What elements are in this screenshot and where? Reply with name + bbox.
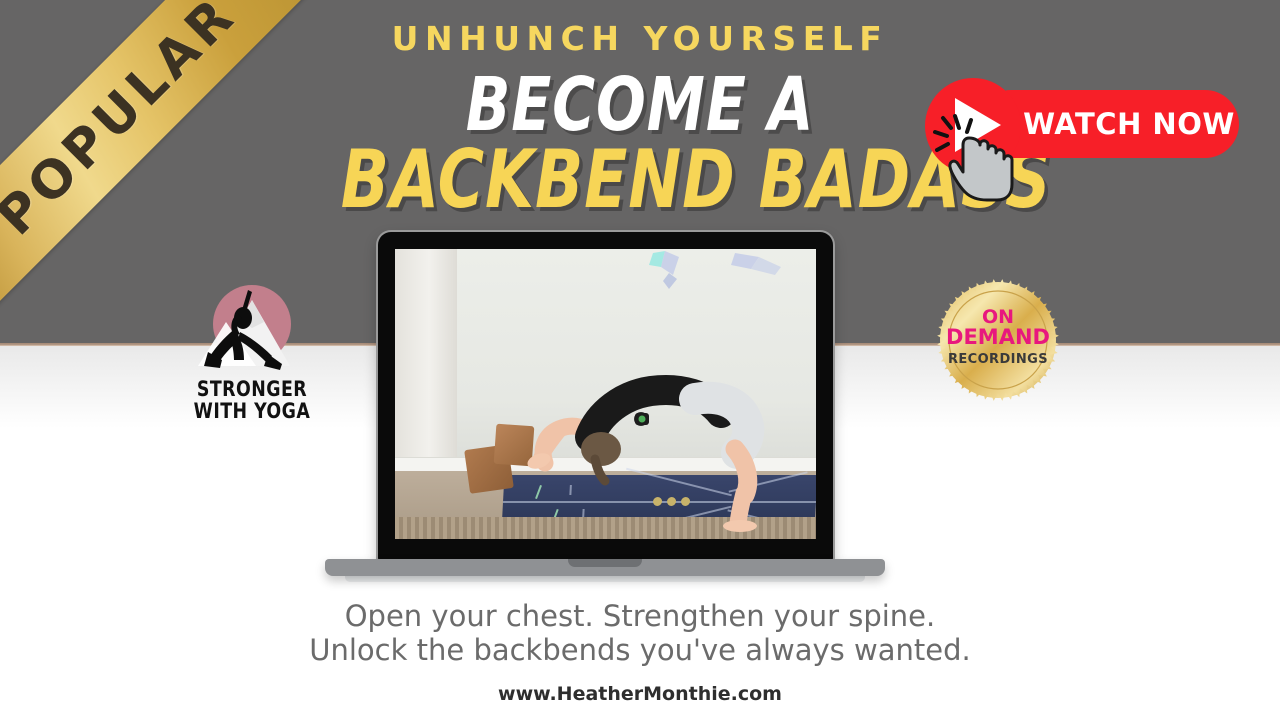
tagline-line-1: Open your chest. Strengthen your spine.: [140, 600, 1140, 634]
on-demand-seal: ON DEMAND RECORDINGS: [936, 278, 1060, 402]
laptop-base-notch: [568, 559, 642, 567]
click-hand-icon: [947, 120, 1025, 202]
seal-text: ON DEMAND RECORDINGS: [936, 308, 1060, 367]
tagline: Open your chest. Strengthen your spine. …: [140, 600, 1140, 668]
headline-line-2: BACKBEND BADASS: [341, 143, 939, 217]
video-yoga-figure: [395, 249, 816, 539]
headline-line-1: BECOME A: [341, 71, 939, 139]
logo-wordmark: STRONGER WITH YOGA: [191, 378, 312, 423]
laptop-base-foot: [345, 576, 865, 582]
laptop-mockup: [325, 232, 885, 587]
stronger-with-yoga-logo: STRONGER WITH YOGA: [186, 282, 318, 432]
watch-now-label: WATCH NOW: [1023, 107, 1235, 141]
logo-line-1: STRONGER: [191, 378, 312, 400]
tagline-line-2: Unlock the backbends you've always wante…: [140, 634, 1140, 668]
laptop-lid: [378, 232, 833, 562]
yoga-pose-mountain-icon: [186, 282, 318, 382]
headline-block: UNHUNCH YOURSELF BECOME A BACKBEND BADAS…: [300, 22, 980, 217]
seal-line-3: RECORDINGS: [936, 352, 1060, 367]
logo-line-2: WITH YOGA: [191, 400, 312, 422]
seal-line-2: DEMAND: [936, 327, 1060, 348]
promo-graphic: POPULAR UNHUNCH YOURSELF BECOME A BACKBE…: [0, 0, 1280, 720]
watch-now-button[interactable]: WATCH NOW: [925, 78, 1245, 170]
headline-eyebrow: UNHUNCH YOURSELF: [300, 22, 980, 55]
website-url[interactable]: www.HeatherMonthie.com: [140, 683, 1140, 705]
video-screen[interactable]: [395, 249, 816, 539]
